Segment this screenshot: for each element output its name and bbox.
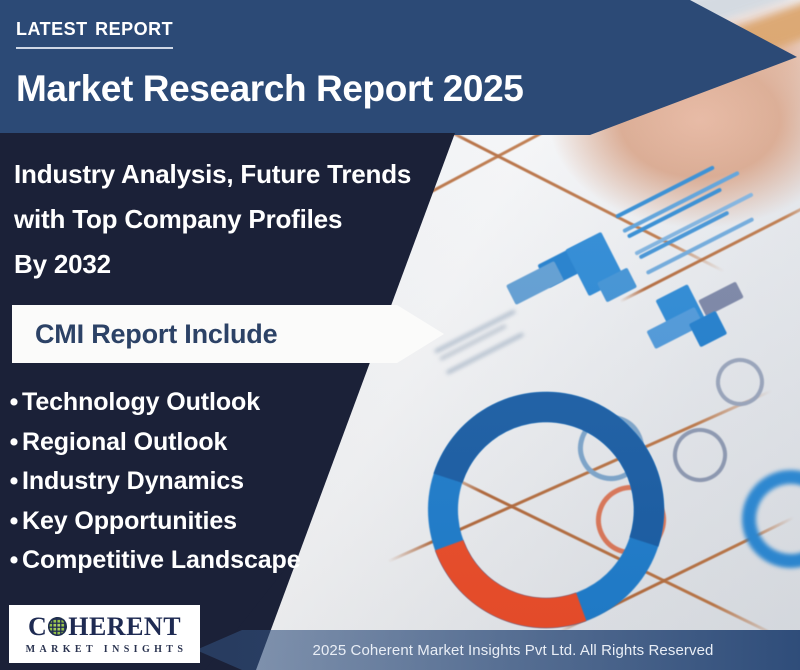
page-title: Market Research Report 2025 — [16, 68, 523, 110]
photo-bar — [689, 311, 728, 348]
photo-ring-chart — [584, 473, 678, 567]
list-item: •Key Opportunities — [6, 502, 301, 542]
list-item-label: Industry Dynamics — [22, 467, 244, 495]
photo-data-line — [627, 187, 722, 238]
list-item: •Competitive Landscape — [6, 541, 301, 581]
logo-word-before: C — [28, 614, 47, 640]
photo-bar — [565, 232, 624, 296]
photo-bar — [597, 267, 637, 302]
photo-data-line — [622, 171, 740, 234]
footer-bar: 2025 Coherent Market Insights Pvt Ltd. A… — [196, 630, 800, 670]
photo-data-line — [446, 333, 524, 375]
photo-rule-line — [387, 389, 772, 563]
photo-donut-segment — [389, 353, 703, 667]
coherent-market-insights-logo: C HERENT MARKET INSIGHTS — [9, 605, 200, 663]
green-globe-grid-icon — [48, 617, 67, 636]
list-item-label: Regional Outlook — [22, 428, 227, 456]
bullet-dot-icon: • — [6, 462, 22, 502]
ribbon-label: CMI Report Include — [35, 319, 277, 350]
photo-data-line — [439, 324, 506, 360]
photo-donut-chart — [725, 453, 800, 585]
photo-data-line — [634, 192, 753, 255]
photo-data-line — [639, 211, 730, 260]
photo-rule-line — [439, 470, 782, 639]
list-item: •Technology Outlook — [6, 383, 301, 423]
photo-rule-line — [429, 120, 724, 272]
photo-ring-chart — [567, 404, 656, 493]
photo-donut-chart — [387, 351, 704, 668]
photo-donut-segment — [387, 351, 704, 668]
logo-wordmark: C HERENT — [28, 614, 181, 640]
photo-data-line — [615, 165, 715, 219]
list-item-label: Key Opportunities — [22, 507, 237, 535]
photo-rule-line — [559, 516, 794, 633]
photo-ring-chart — [664, 419, 737, 492]
photo-data-line — [434, 310, 516, 354]
subtitle-line-2: with Top Company Profiles — [14, 197, 411, 242]
photo-ring-chart — [708, 350, 773, 415]
photo-bar — [646, 307, 703, 349]
bullet-dot-icon: • — [6, 423, 22, 463]
bullet-dot-icon: • — [6, 541, 22, 581]
list-item-label: Competitive Landscape — [22, 546, 301, 574]
copyright-text: 2025 Coherent Market Insights Pvt Ltd. A… — [283, 642, 714, 659]
subtitle-block: Industry Analysis, Future Trends with To… — [14, 152, 411, 287]
photo-bar — [537, 238, 602, 288]
report-include-list: •Technology Outlook •Regional Outlook •I… — [6, 383, 301, 581]
list-item: •Regional Outlook — [6, 423, 301, 463]
logo-tagline: MARKET INSIGHTS — [26, 645, 188, 655]
subtitle-line-1: Industry Analysis, Future Trends — [14, 152, 411, 197]
list-item-label: Technology Outlook — [22, 388, 260, 416]
photo-bar — [655, 284, 706, 338]
photo-rule-line — [619, 196, 800, 303]
kicker-latest-report: Latest Report — [16, 14, 173, 49]
bullet-dot-icon: • — [6, 383, 22, 423]
subtitle-line-3: By 2032 — [14, 242, 411, 287]
cmi-report-include-ribbon: CMI Report Include — [12, 305, 444, 363]
list-item: •Industry Dynamics — [6, 462, 301, 502]
photo-bar — [698, 281, 744, 316]
photo-bar — [506, 261, 564, 305]
report-cover-poster: Latest Report Market Research Report 202… — [0, 0, 800, 670]
logo-word-after: HERENT — [68, 614, 181, 640]
photo-data-line — [646, 217, 755, 275]
bullet-dot-icon: • — [6, 502, 22, 542]
